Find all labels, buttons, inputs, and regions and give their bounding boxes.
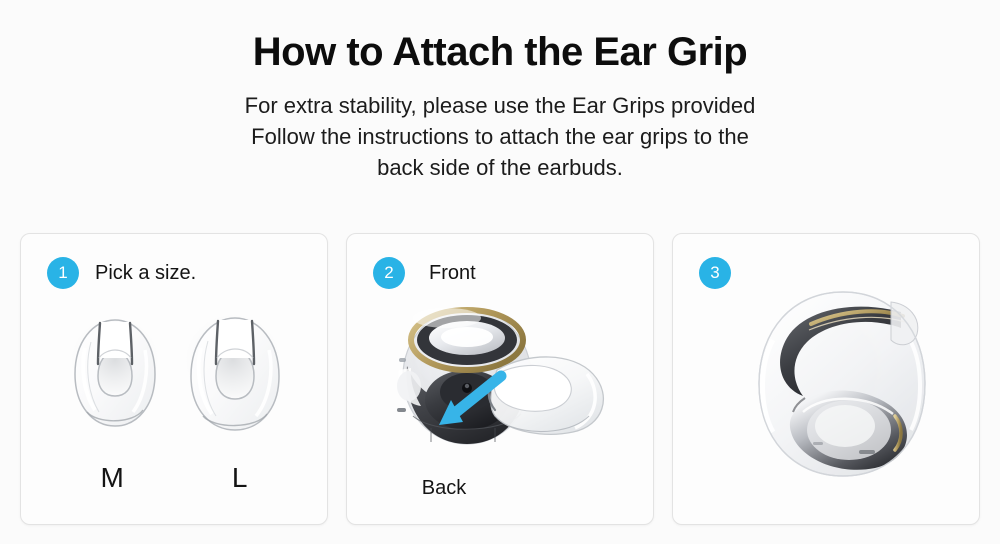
header: How to Attach the Ear Grip For extra sta… (0, 0, 1000, 184)
step-card-3: 3 (672, 233, 980, 525)
size-labels: M L (21, 462, 327, 494)
step-2-bottom-label: Back (347, 477, 653, 500)
earbud-attach-art (377, 296, 637, 466)
subtitle-line-2: Follow the instructions to attach the ea… (0, 121, 1000, 152)
assembled-earbud-art (751, 284, 931, 484)
size-label-medium: M (101, 462, 124, 494)
ear-grips-pair-art (63, 308, 293, 458)
steps-container: 1 Pick a size. (20, 233, 980, 525)
size-label-large: L (232, 462, 248, 494)
step-3-illustration (673, 234, 979, 524)
step-card-2: 2 Front (346, 233, 654, 525)
subtitle-line-1: For extra stability, please use the Ear … (0, 90, 1000, 121)
page-subtitle: For extra stability, please use the Ear … (0, 90, 1000, 184)
instruction-page: How to Attach the Ear Grip For extra sta… (0, 0, 1000, 544)
step-2-illustration: Back (347, 234, 653, 524)
ear-grip-detached (489, 357, 604, 434)
subtitle-line-3: back side of the earbuds. (0, 152, 1000, 183)
step-1-illustration: M L (21, 234, 327, 524)
step-card-1: 1 Pick a size. (20, 233, 328, 525)
page-title: How to Attach the Ear Grip (0, 30, 1000, 74)
